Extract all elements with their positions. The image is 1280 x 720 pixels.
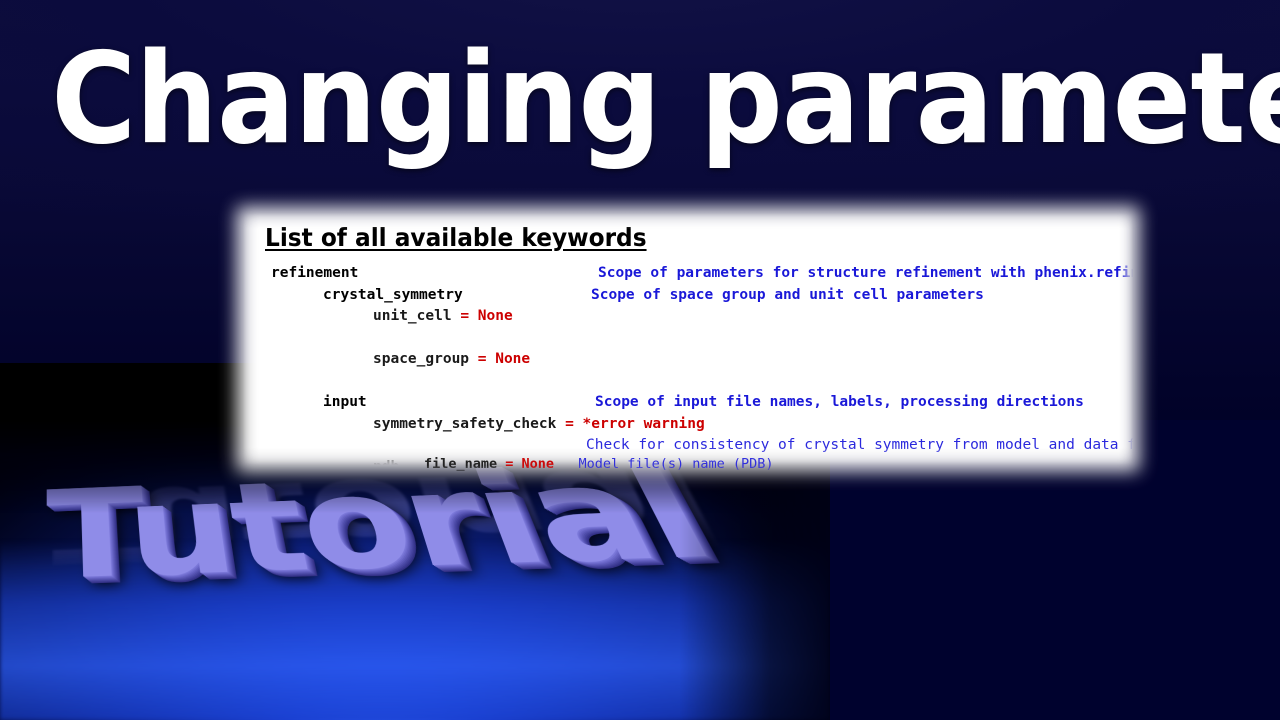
slide-root: Tutorial Tutorial Changing parameters Li… xyxy=(0,0,1280,720)
keyword-label: symmetry_safety_check xyxy=(373,416,565,432)
keyword-description: Scope of input file names, labels, proce… xyxy=(595,392,1084,414)
keyword-name: symmetry_safety_check = *error warning xyxy=(373,414,705,436)
keyword-row: unit_cell = None xyxy=(243,306,1133,328)
keyword-label: space_group xyxy=(373,351,478,367)
keyword-name: input xyxy=(323,392,367,414)
keyword-row: inputScope of input file names, labels, … xyxy=(243,392,1133,414)
keyword-name: pdb xyxy=(373,457,399,466)
keyword-name: crystal_symmetry xyxy=(323,285,463,307)
keyword-value: = None xyxy=(478,351,530,367)
keywords-card: List of all available keywords refinemen… xyxy=(243,213,1133,465)
spilled-code-line: file_name = None Model file(s) name (PDB… xyxy=(424,455,774,473)
keyword-label: crystal_symmetry xyxy=(323,287,463,303)
keyword-label: pdb xyxy=(373,459,399,466)
keyword-row: Check for consistency of crystal symmetr… xyxy=(243,435,1133,457)
keyword-row xyxy=(243,328,1133,350)
keyword-name: unit_cell = None xyxy=(373,306,513,328)
spill-keyword-label: file_name xyxy=(424,456,505,472)
keyword-description: Scope of parameters for structure refine… xyxy=(598,263,1133,285)
card-heading: List of all available keywords xyxy=(265,224,647,253)
keyword-row: symmetry_safety_check = *error warning xyxy=(243,414,1133,436)
keyword-description: Scope of space group and unit cell param… xyxy=(591,285,984,307)
keyword-row xyxy=(243,371,1133,393)
slide-title: Changing parameters xyxy=(51,36,1229,162)
keyword-row: crystal_symmetryScope of space group and… xyxy=(243,285,1133,307)
keyword-row: space_group = None xyxy=(243,349,1133,371)
keyword-name: refinement xyxy=(271,263,358,285)
keyword-name: space_group = None xyxy=(373,349,530,371)
keyword-value: = None xyxy=(460,308,512,324)
keyword-value: = *error warning xyxy=(565,416,705,432)
keyword-description: Check for consistency of crystal symmetr… xyxy=(586,435,1133,457)
keyword-row: refinementScope of parameters for struct… xyxy=(243,263,1133,285)
card-surface: List of all available keywords refinemen… xyxy=(243,213,1133,465)
spill-keyword-description: Model file(s) name (PDB) xyxy=(554,456,773,472)
keyword-label: input xyxy=(323,394,367,410)
keyword-label: refinement xyxy=(271,265,358,281)
keyword-label: unit_cell xyxy=(373,308,460,324)
spill-keyword-value: = None xyxy=(505,456,554,472)
keyword-listing: refinementScope of parameters for struct… xyxy=(243,263,1133,465)
